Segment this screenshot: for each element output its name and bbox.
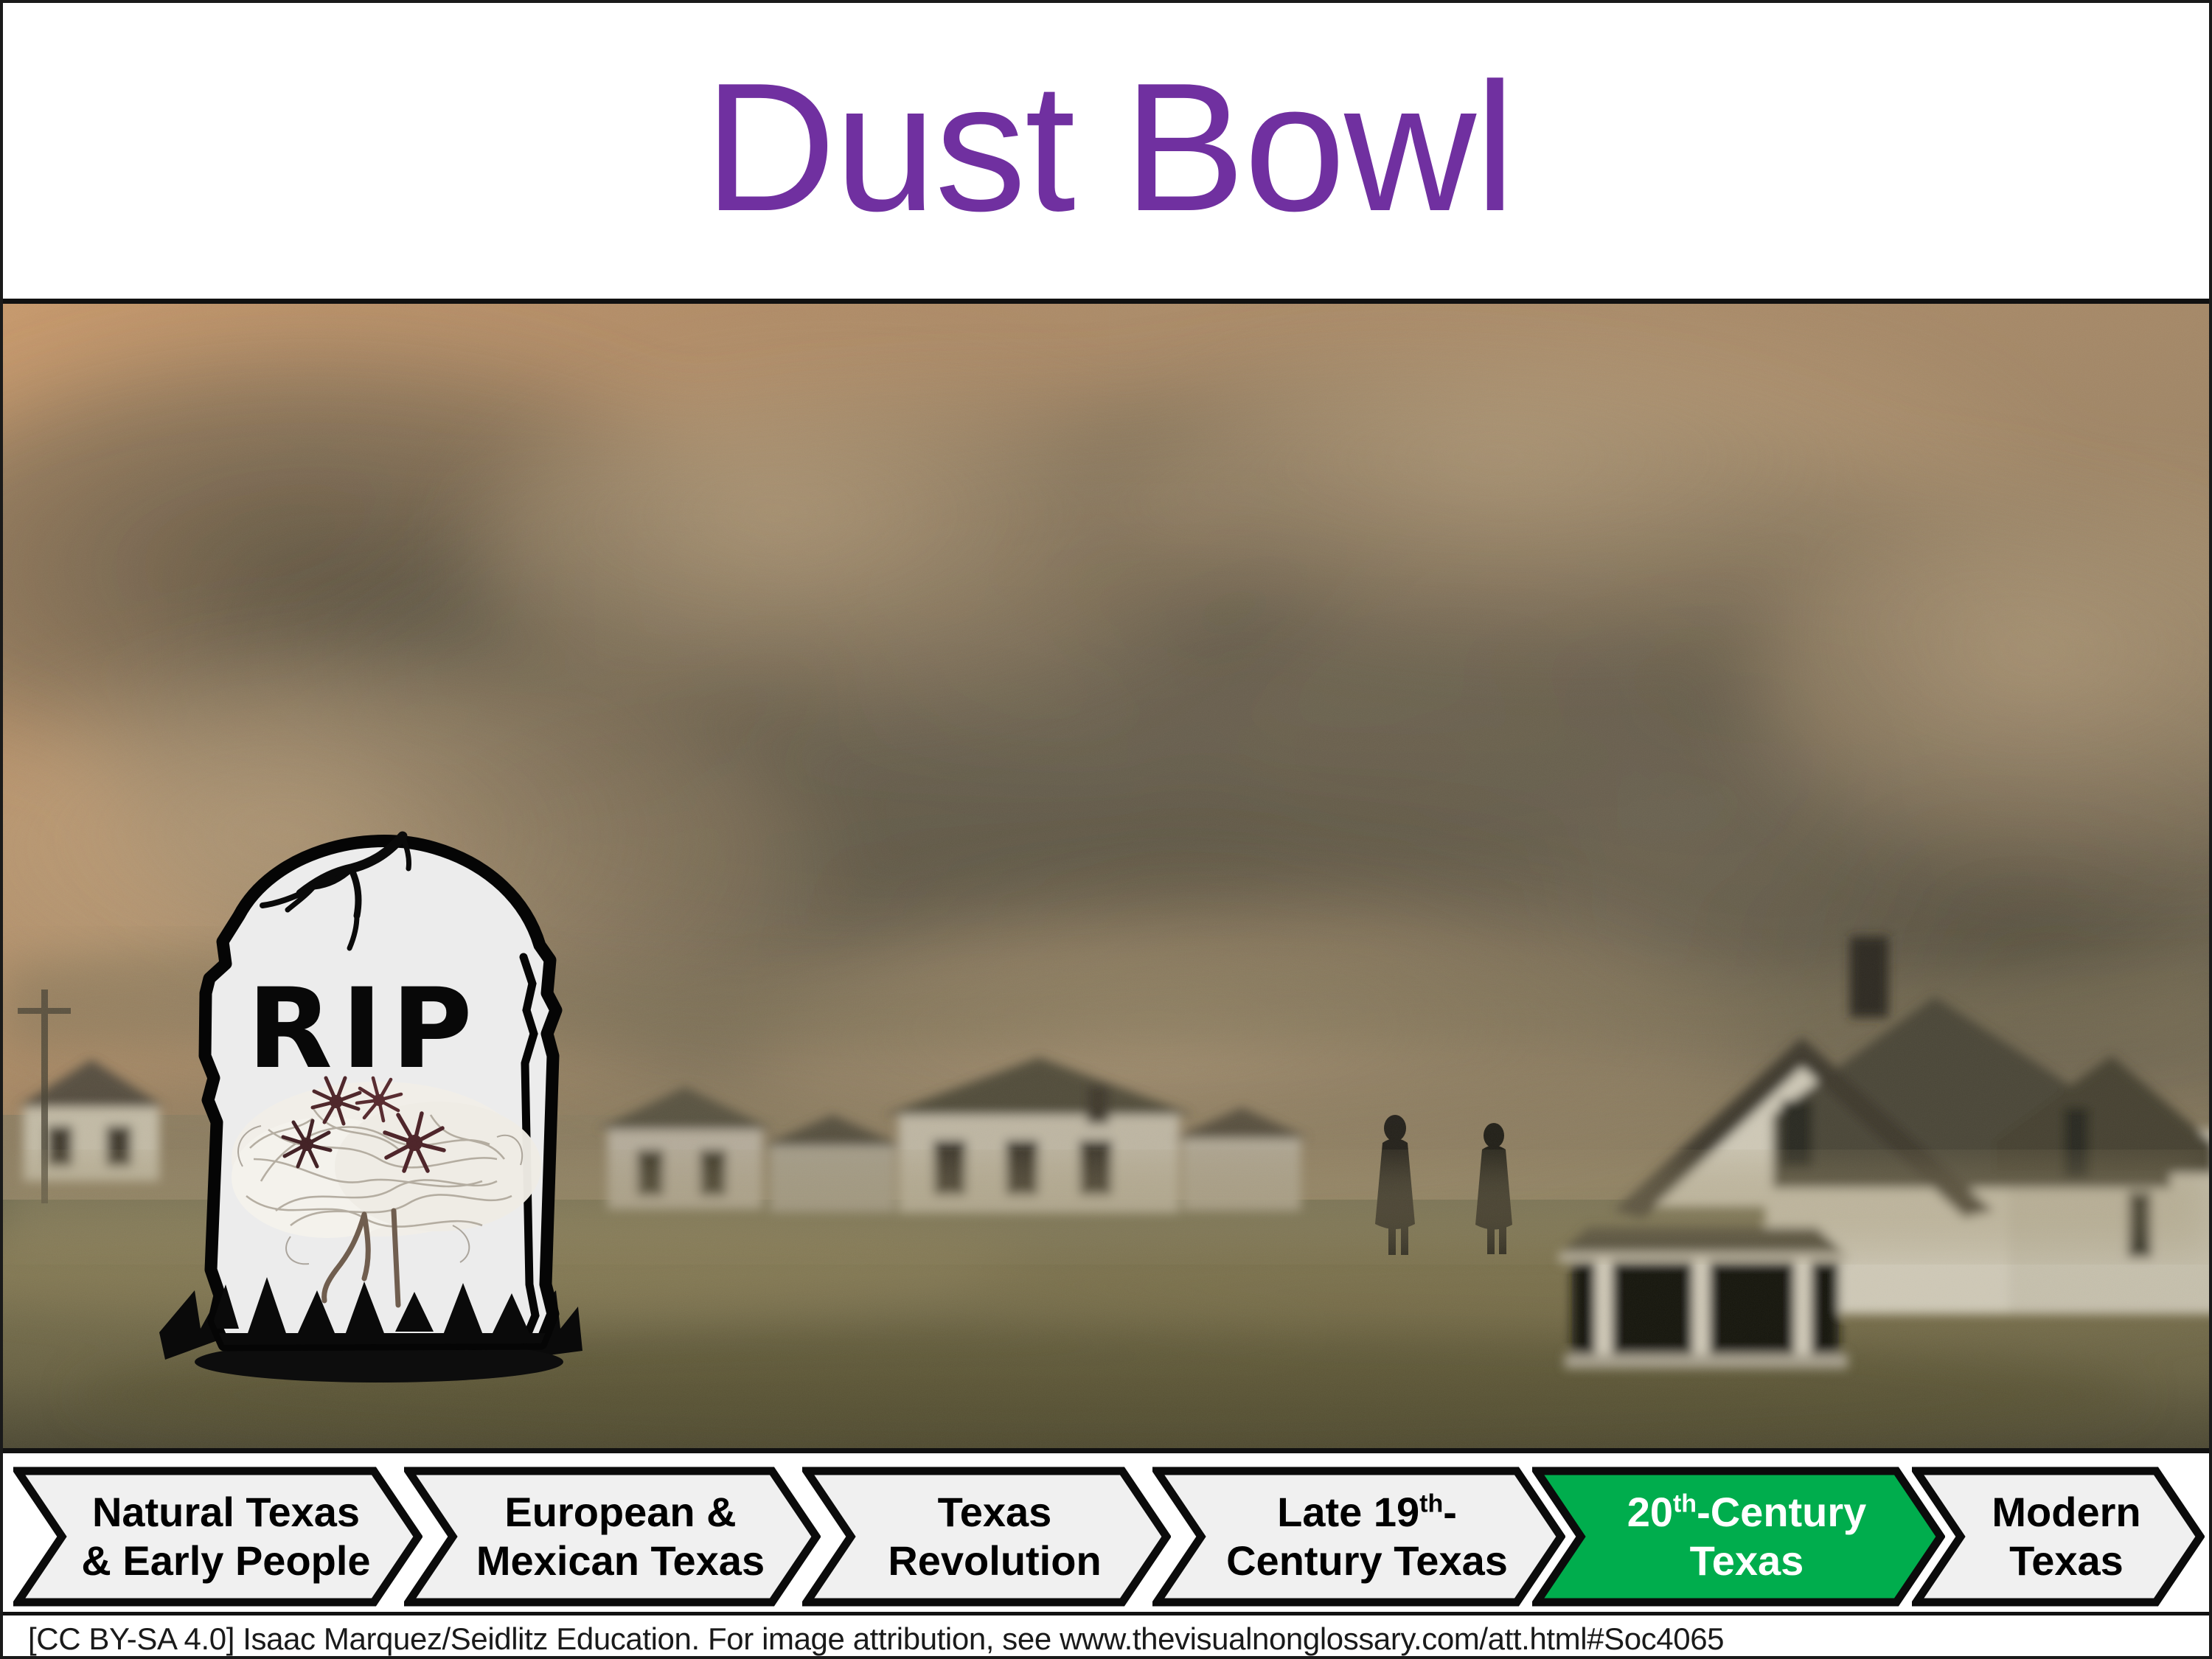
nav-label: Modern Texas [1912,1467,2205,1607]
page-title: Dust Bowl [704,55,1514,238]
timeline-nav-bar: Natural Texas & Early People European & … [3,1448,2212,1612]
attribution-bar: [CC BY-SA 4.0] Isaac Marquez/Seidlitz Ed… [3,1612,2212,1659]
nav-label-line1: Texas [938,1488,1052,1537]
nav-item-texas-revolution[interactable]: Texas Revolution [802,1467,1171,1607]
attribution-text: [CC BY-SA 4.0] Isaac Marquez/Seidlitz Ed… [28,1621,1724,1657]
chevron-row: Natural Texas & Early People European & … [13,1467,2205,1607]
nav-label-line2: Texas [1690,1537,1804,1585]
nav-label-line1: 20th-Century [1627,1488,1867,1537]
tombstone-rip-text: RIP [247,965,481,1093]
nav-label: European & Mexican Texas [404,1467,821,1607]
nav-label-line2: & Early People [81,1537,370,1585]
nav-item-natural-texas[interactable]: Natural Texas & Early People [13,1467,422,1607]
nav-label-superscript: th [1673,1489,1697,1517]
nav-label: 20th-Century Texas [1532,1467,1945,1607]
nav-label-line2: Texas [2009,1537,2124,1585]
nav-item-late-19th-century-texas[interactable]: Late 19th- Century Texas [1152,1467,1565,1607]
nav-label-line2: Mexican Texas [476,1537,765,1585]
nav-label-line1: European & [504,1488,736,1537]
nav-item-20th-century-texas[interactable]: 20th-Century Texas [1532,1467,1945,1607]
nav-label: Natural Texas & Early People [13,1467,422,1607]
nav-item-modern-texas[interactable]: Modern Texas [1912,1467,2205,1607]
nav-label: Late 19th- Century Texas [1152,1467,1565,1607]
slide-root: Dust Bowl [0,0,2212,1659]
nav-label-line2: Revolution [888,1537,1101,1585]
nav-label: Texas Revolution [802,1467,1171,1607]
dust-storm-photo: RIP [3,304,2212,1448]
nav-item-european-mexican-texas[interactable]: European & Mexican Texas [404,1467,821,1607]
nav-label-line2: Century Texas [1226,1537,1508,1585]
nav-label-line1: Late 19th- [1277,1488,1457,1537]
tombstone-icon: RIP [143,813,593,1395]
nav-label-line1: Natural Texas [92,1488,360,1537]
slide-header: Dust Bowl [3,3,2212,304]
nav-label-superscript: th [1419,1489,1443,1517]
nav-label-line1: Modern [1992,1488,2140,1537]
tombstone-svg: RIP [143,813,593,1395]
